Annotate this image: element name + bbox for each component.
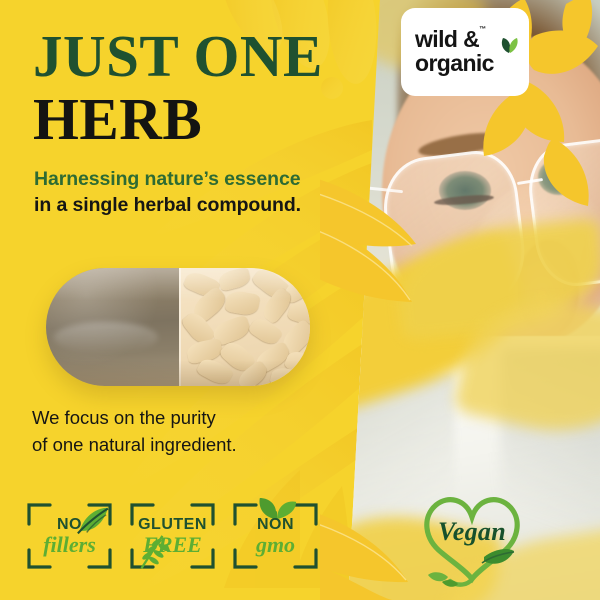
badge-non-gmo: NON gmo (228, 500, 323, 572)
headline-block: JUST ONE HERB (33, 28, 323, 147)
vegan-badge: Vegan (414, 487, 530, 591)
leaf-icon (498, 35, 520, 55)
headline-line-1: JUST ONE (33, 28, 323, 85)
body-copy-line-1: We focus on the purity (32, 405, 237, 432)
logo-line-2: organic (415, 52, 515, 76)
badge-label-bottom: gmo (256, 534, 295, 556)
body-copy-block: We focus on the purity of one natural in… (32, 405, 237, 459)
product-capsule-image (46, 268, 310, 386)
badge-label-top: GLUTEN (138, 517, 207, 533)
subheadline-line-1: Harnessing nature’s essence (34, 167, 301, 193)
badge-label-top: NO (57, 517, 82, 533)
advertisement-canvas: JUST ONE HERB Harnessing nature’s essenc… (0, 0, 600, 600)
vegan-label: Vegan (427, 517, 517, 547)
headline-line-2: HERB (33, 91, 323, 148)
logo-line-2-text: organic (415, 50, 494, 76)
logo-line-1-text: wild & (415, 26, 479, 52)
capsule-root-slices-half (179, 268, 310, 386)
subheadline-block: Harnessing nature’s essence in a single … (34, 167, 301, 219)
subheadline-line-2: in a single herbal compound. (34, 193, 301, 219)
brand-logo[interactable]: wild &™ organic (401, 8, 529, 96)
body-copy-line-2: of one natural ingredient. (32, 432, 237, 459)
capsule-powder-half (46, 268, 179, 386)
badge-gluten-free: GLUTEN FREE (125, 500, 220, 572)
certification-badges: NO fillers (22, 500, 323, 572)
badge-label-bottom: FREE (143, 534, 202, 556)
trademark-symbol: ™ (479, 26, 485, 33)
badge-label-top: NON (257, 517, 294, 533)
badge-label-bottom: fillers (43, 534, 96, 556)
badge-no-fillers: NO fillers (22, 500, 117, 572)
